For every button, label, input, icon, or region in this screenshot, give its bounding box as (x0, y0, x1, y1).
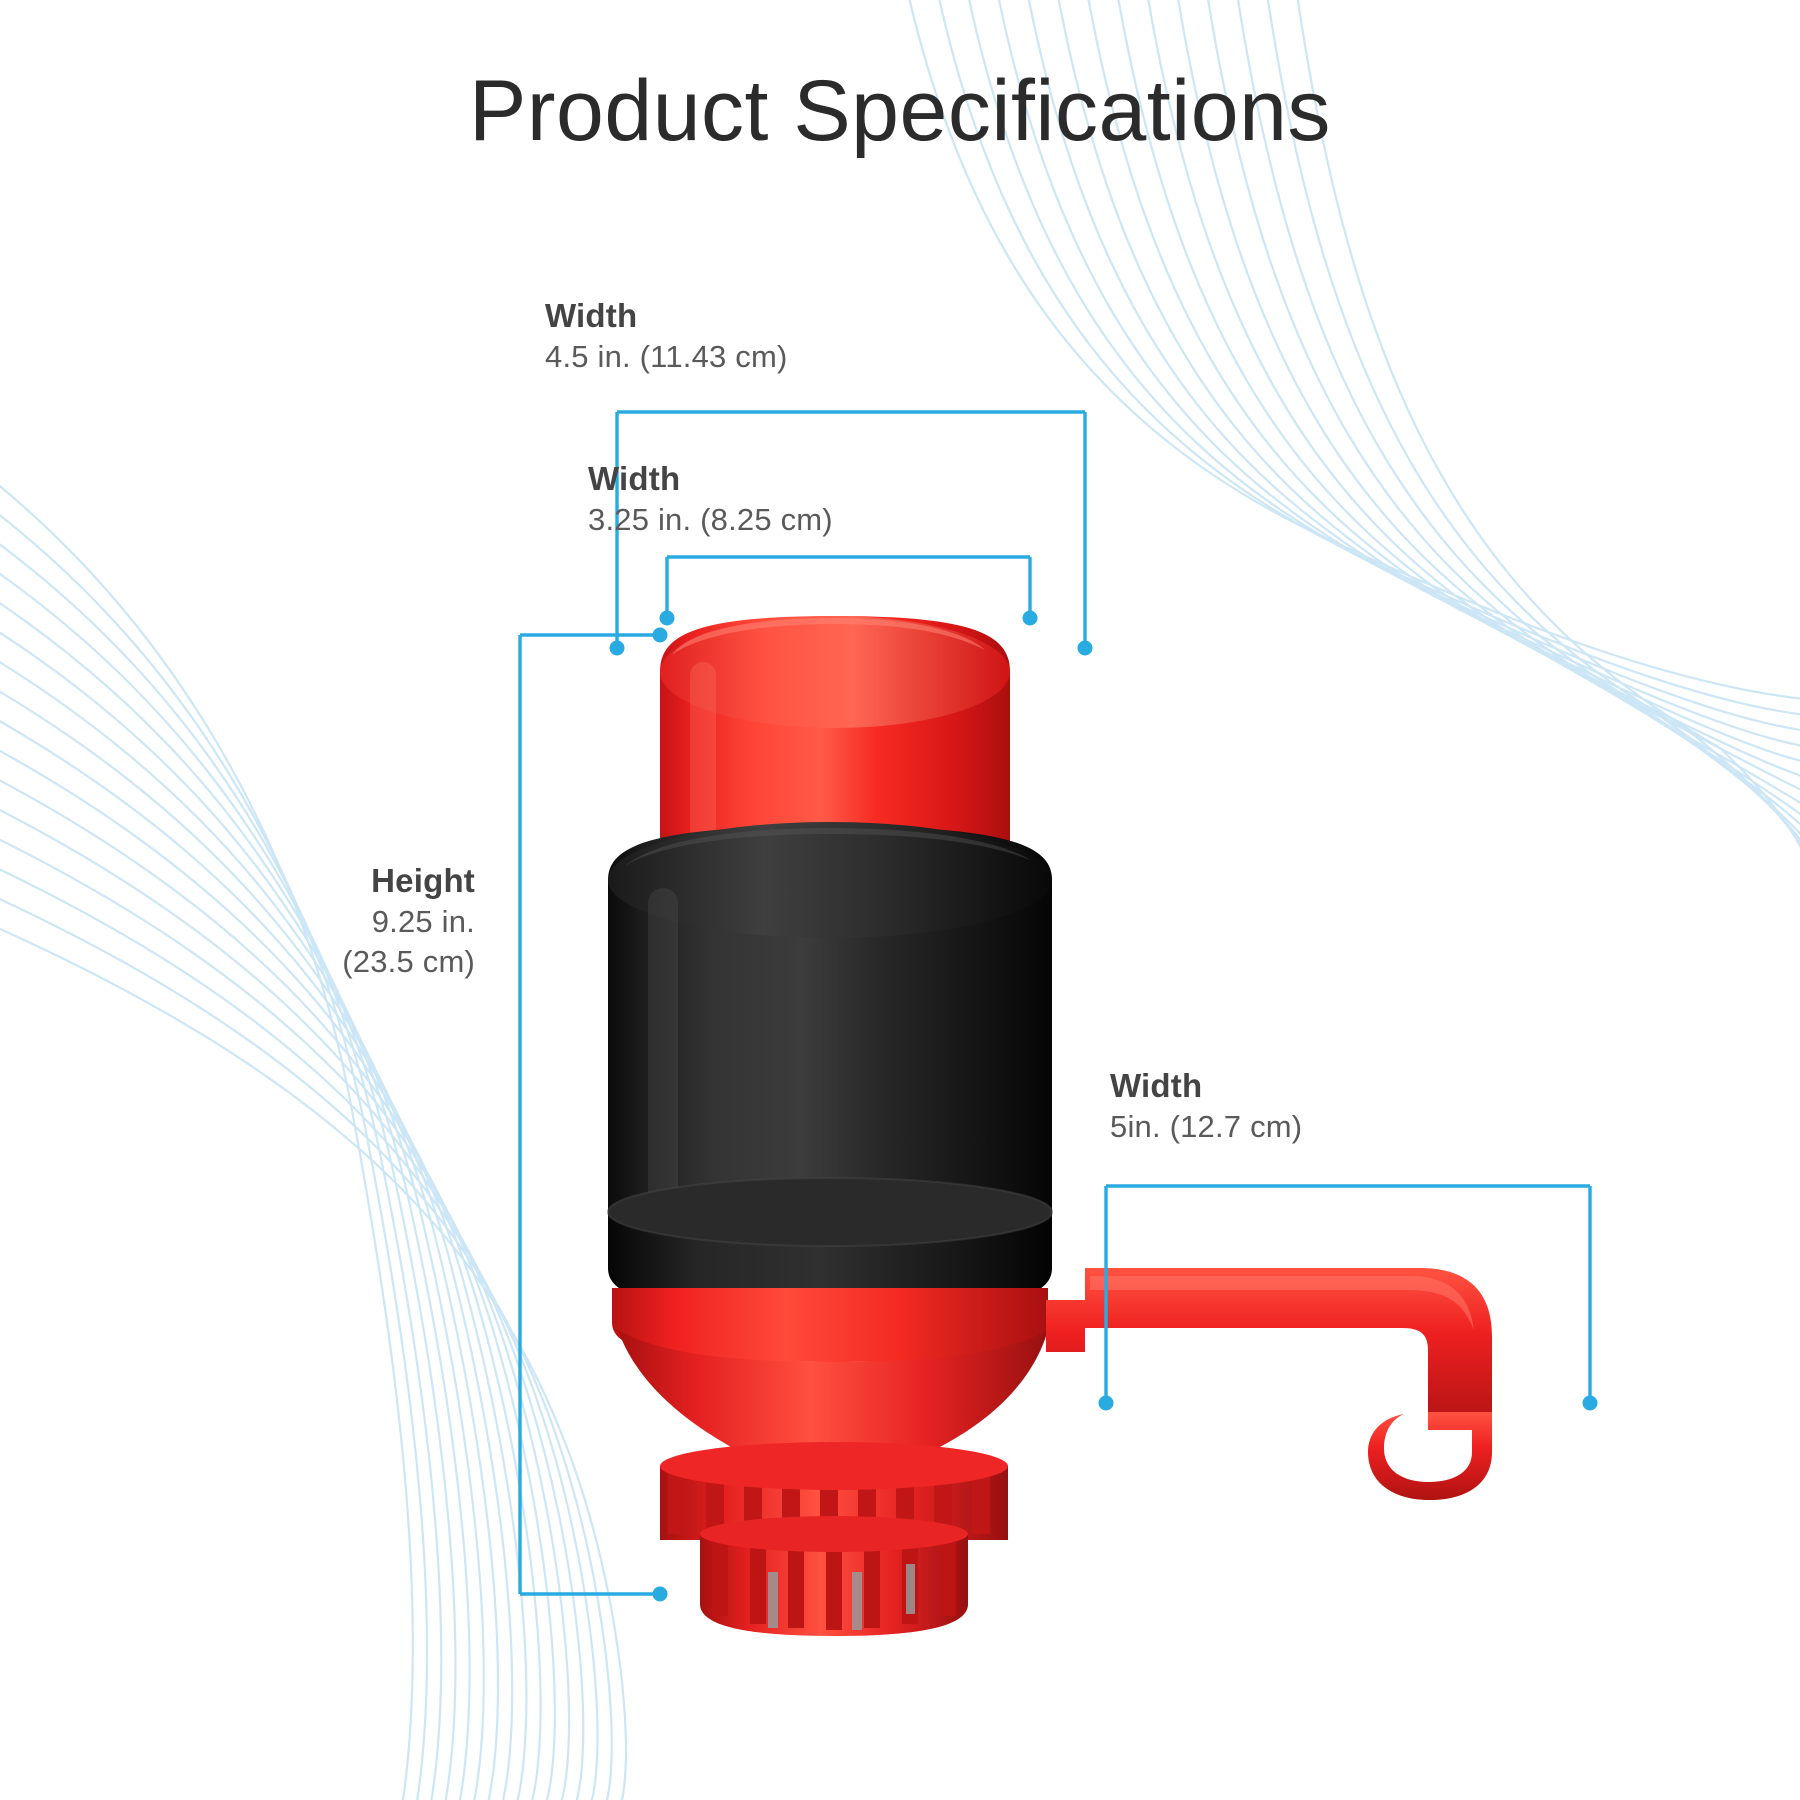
bracket-width-right (1106, 1186, 1590, 1398)
dimension-title: Height (140, 860, 475, 902)
dimension-title: Width (588, 458, 1008, 500)
dimension-value: 5in. (12.7 cm) (1110, 1107, 1530, 1147)
dimension-value: 3.25 in. (8.25 cm) (588, 500, 1008, 540)
dimension-value-line-2: (23.5 cm) (140, 942, 475, 982)
dimension-label-height: Height 9.25 in. (23.5 cm) (140, 860, 475, 982)
dimension-value: 4.5 in. (11.43 cm) (545, 337, 965, 377)
dimension-title: Width (545, 295, 965, 337)
specification-sheet: Product Specifications (0, 0, 1800, 1800)
dimension-title: Width (1110, 1065, 1530, 1107)
dimension-value-line-1: 9.25 in. (140, 902, 475, 942)
dimension-label-width-middle: Width 3.25 in. (8.25 cm) (588, 458, 1008, 540)
bracket-width-middle (667, 557, 1030, 613)
dimension-label-width-right: Width 5in. (12.7 cm) (1110, 1065, 1530, 1147)
bracket-height (520, 635, 660, 1594)
dimension-label-width-top: Width 4.5 in. (11.43 cm) (545, 295, 965, 377)
